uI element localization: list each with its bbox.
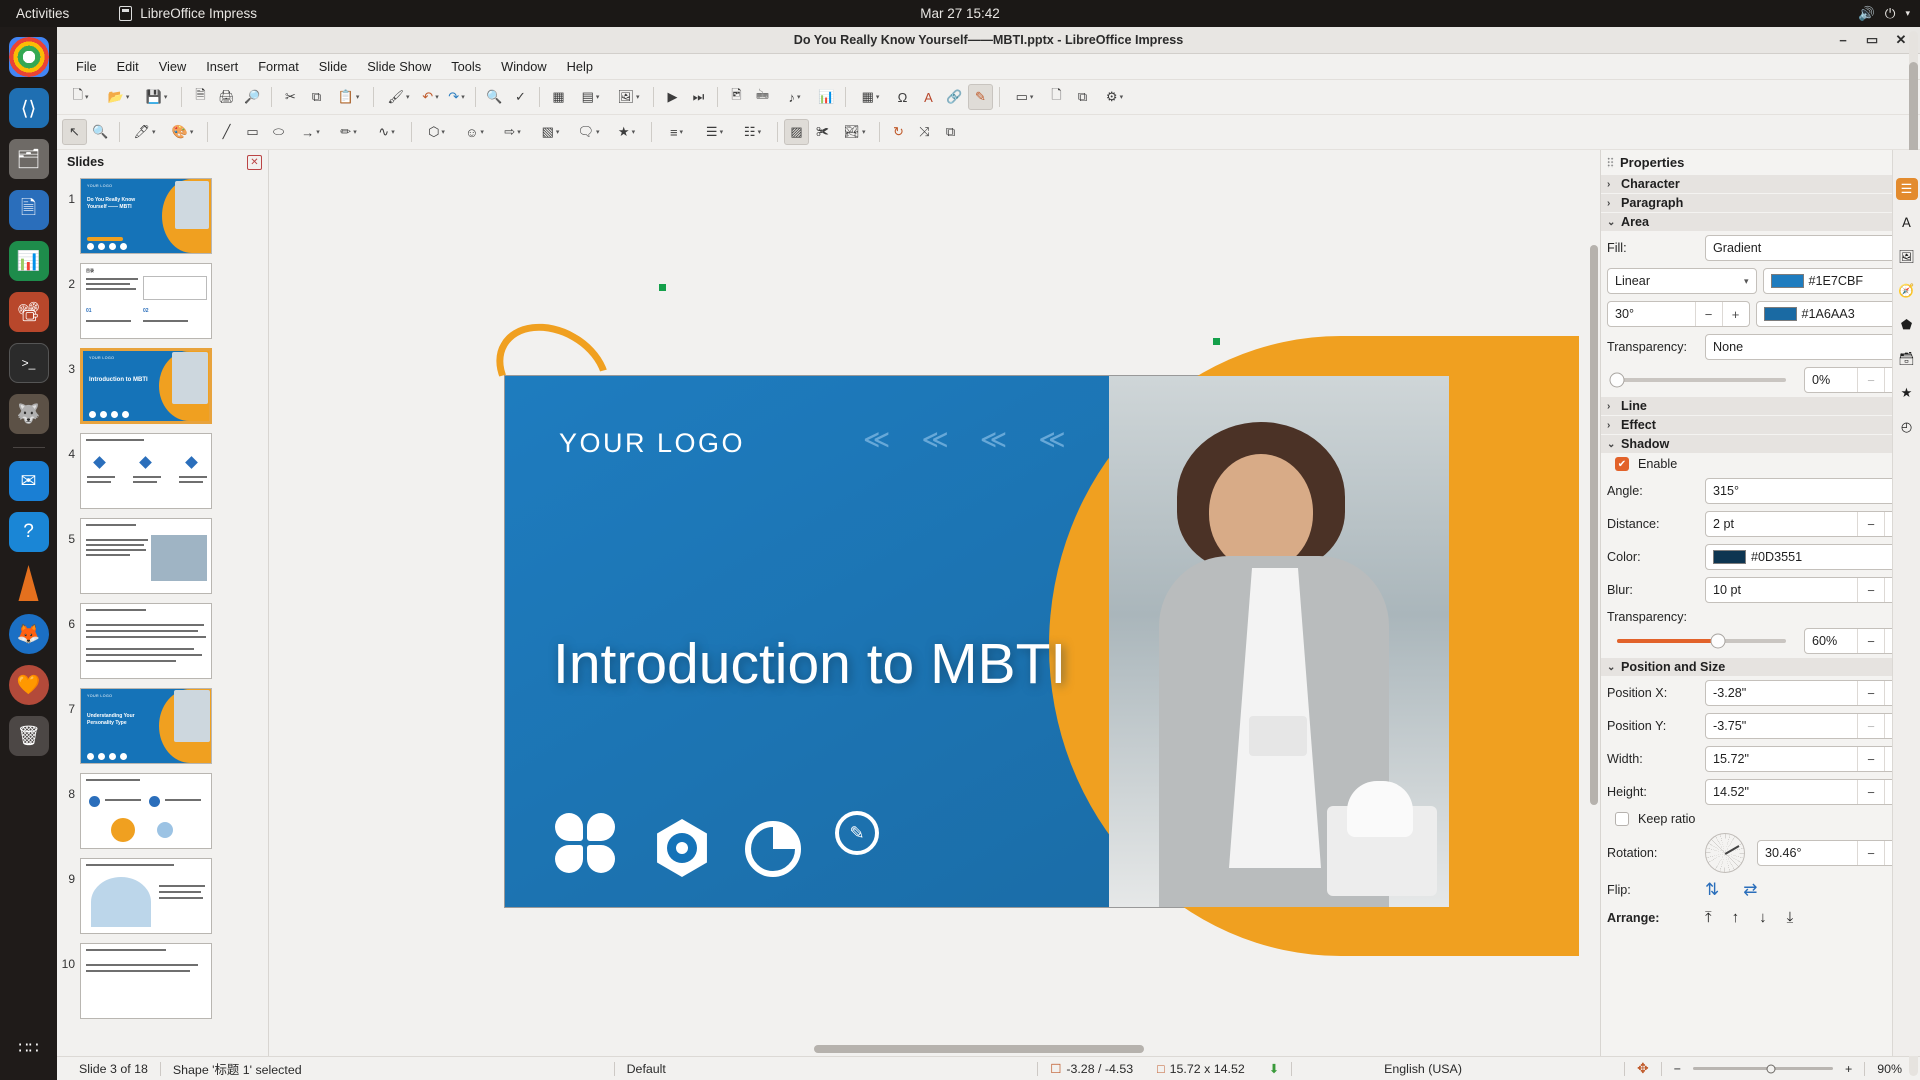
rotate-icon[interactable]: ↻ — [886, 119, 911, 145]
window-controls[interactable]: − ▭ ✕ — [1830, 30, 1914, 50]
position-x-stepper[interactable]: -3.28" − + — [1705, 680, 1912, 706]
slide-thumbnail-6[interactable]: 6 — [61, 603, 266, 679]
new-document-icon[interactable]: 🗋▾ — [62, 84, 99, 110]
section-line[interactable]: › Line ⚙ — [1601, 396, 1920, 415]
insert-image-icon[interactable]: 🖻 — [724, 84, 749, 110]
decrement-button[interactable]: − — [1857, 780, 1884, 804]
position-x-label: Position X: — [1607, 686, 1699, 700]
insert-line-icon[interactable]: ╱ — [214, 119, 239, 145]
menu-file[interactable]: File — [67, 56, 106, 77]
decrement-button[interactable]: − — [1857, 714, 1884, 738]
decrement-button[interactable]: − — [1857, 368, 1884, 392]
arrange-row: Arrange: ⤒ ↑ ↓ ⤓ — [1601, 903, 1920, 929]
chevron-down-icon: ▾ — [1744, 276, 1749, 287]
section-character-label: Character — [1621, 177, 1680, 191]
decrement-button[interactable]: − — [1857, 681, 1884, 705]
shadow-distance-stepper[interactable]: 2 pt − + — [1705, 511, 1912, 537]
area-transparency-value: None — [1713, 340, 1743, 354]
gradient-angle-row: 30° − + #1A6AA3 ▾ — [1601, 297, 1920, 330]
position-y-value[interactable]: -3.75" — [1706, 714, 1857, 738]
sidebar-tab-shapes[interactable]: ⬟ — [1896, 314, 1918, 336]
shadow-enable-label: Enable — [1638, 457, 1677, 471]
status-bar: Slide 3 of 18 Shape '标题 1' selected Defa… — [57, 1056, 1920, 1080]
maximize-button[interactable]: ▭ — [1859, 30, 1885, 50]
slide-thumb-image[interactable] — [80, 773, 212, 849]
dock-item-impress[interactable]: 📽 — [9, 292, 49, 332]
status-save-indicator[interactable]: ⬇ — [1257, 1061, 1291, 1076]
section-paragraph-label: Paragraph — [1621, 196, 1683, 210]
location-icon[interactable] — [653, 819, 711, 877]
width-row: Width: 15.72" − + — [1601, 742, 1920, 775]
slide-thumbnail-10[interactable]: 10 — [61, 943, 266, 1019]
gradient-angle-value[interactable]: 30° — [1608, 302, 1695, 326]
chevron-down-icon: ⌄ — [1607, 439, 1616, 450]
ubuntu-dock[interactable]: ⟨⟩ 🗂 🗎 📊 📽 >_ 🐺 ✉ ? 🦊 🧡 🗑 ∷∷ — [0, 27, 57, 1080]
fill-label: Fill: — [1607, 241, 1699, 255]
power-icon[interactable]: ⏻ — [1885, 6, 1896, 22]
toolbar-separator — [181, 87, 182, 107]
dock-item-vscode[interactable]: ⟨⟩ — [9, 88, 49, 128]
pencil-icon[interactable]: ✎ — [835, 811, 879, 855]
cursor-position-value: -3.28 / -4.53 — [1066, 1062, 1133, 1076]
slide-editing-area[interactable]: YOUR LOGO ≪ ≪ ≪ ≪ Introduction to MBTI — [269, 150, 1600, 1056]
spelling-icon[interactable]: ✓ — [508, 84, 533, 110]
shadow-blur-value[interactable]: 10 pt — [1706, 578, 1857, 602]
master-slide-icon[interactable]: 🖼▾ — [610, 84, 647, 110]
slide-thumb-image[interactable] — [80, 858, 212, 934]
insert-shape-icon[interactable]: ▭▾ — [1006, 84, 1043, 110]
standard-toolbar[interactable]: 🗋▾ 📂▾ 💾▾ 🗎 🖨 🔎 ✂ ⧉ 📋▾ 🖌▾ ↶▾ ↷▾ 🔍 ✓ ▦ ▤▾ … — [57, 80, 1920, 115]
section-area[interactable]: ⌄ Area ⚙ — [1601, 212, 1920, 231]
drag-handle-icon[interactable] — [1607, 157, 1614, 168]
chevron-right-icon: › — [1607, 179, 1616, 190]
keep-ratio-label: Keep ratio — [1638, 812, 1695, 826]
canvas-horizontal-scrollbar[interactable] — [269, 1043, 1600, 1056]
activities-button[interactable]: Activities — [0, 6, 83, 21]
insert-audio-video-icon[interactable]: ♪▾ — [776, 84, 813, 110]
slides-panel-header: Slides ✕ — [57, 150, 268, 174]
section-paragraph[interactable]: › Paragraph ⚙ — [1601, 193, 1920, 212]
flip-vertically-icon[interactable]: ⇅ — [1705, 880, 1719, 900]
shadow-color-label: Color: — [1607, 550, 1699, 564]
selection-handle[interactable] — [659, 284, 666, 291]
area-transparency-select[interactable]: None ▾ — [1705, 334, 1912, 360]
clone-formatting-icon[interactable]: 🖌▾ — [380, 84, 417, 110]
toolbar-separator — [717, 87, 718, 107]
color-swatch — [1713, 550, 1746, 564]
slide-thumbnail-7[interactable]: 7 YOUR LOGO Understanding YourPersonalit… — [61, 688, 266, 764]
gradient-end-color-select[interactable]: #1A6AA3 ▾ — [1756, 301, 1913, 327]
slide-properties-icon[interactable]: ⚙▾ — [1096, 84, 1133, 110]
section-position-and-size[interactable]: ⌄ Position and Size ⚙ — [1601, 657, 1920, 676]
height-stepper[interactable]: 14.52" − + — [1705, 779, 1912, 805]
menu-format[interactable]: Format — [249, 56, 308, 77]
shadow-angle-label: Angle: — [1607, 484, 1699, 498]
duplicate-slide-icon[interactable]: ⧉ — [1070, 84, 1095, 110]
gradient-start-color-select[interactable]: #1E7CBF ▾ — [1763, 268, 1913, 294]
status-cursor-position: ☐ -3.28 / -4.53 — [1038, 1061, 1145, 1076]
drawing-toolbar[interactable]: ↖ 🔍 🖊▾ 🎨▾ ╱ ▭ ⬭ →▾ ✏▾ ∿▾ ⬡▾ ☺▾ ⇨▾ ▧▾ 🗨▾ … — [57, 115, 1920, 150]
decrement-button[interactable]: − — [1857, 512, 1884, 536]
gradient-type-value: Linear — [1615, 274, 1650, 288]
section-effect-label: Effect — [1621, 418, 1656, 432]
system-tray[interactable]: 🔊 ⏻ ▾ — [1858, 6, 1910, 22]
send-to-back-icon[interactable]: ⤓ — [1787, 909, 1794, 926]
position-x-value[interactable]: -3.28" — [1706, 681, 1857, 705]
gnome-top-bar: Activities LibreOffice Impress Mar 27 15… — [0, 0, 1920, 27]
size-icon: □ — [1157, 1062, 1164, 1076]
width-stepper[interactable]: 15.72" − + — [1705, 746, 1912, 772]
shadow-distance-value[interactable]: 2 pt — [1706, 512, 1857, 536]
rectangle-icon[interactable]: ▭ — [240, 119, 265, 145]
stars-icon[interactable]: ★▾ — [608, 119, 645, 145]
menu-slide[interactable]: Slide — [310, 56, 356, 77]
toolbar-separator — [651, 122, 652, 142]
minimize-button[interactable]: − — [1830, 30, 1856, 50]
slide-number: 9 — [61, 858, 75, 886]
insert-special-character-icon[interactable]: Ω — [890, 84, 915, 110]
slide-thumbnail-list[interactable]: 1 YOUR LOGO Do You Really KnowYourself —… — [57, 174, 268, 1056]
object-size-value: 15.72 x 14.52 — [1170, 1062, 1245, 1076]
canvas-vertical-scrollbar[interactable] — [1588, 150, 1600, 1030]
sidebar-tab-gallery[interactable]: 🖼 — [1896, 246, 1918, 268]
insert-textbox-icon[interactable]: 🖮 — [750, 84, 775, 110]
chevron-down-icon[interactable]: ▾ — [1905, 8, 1910, 19]
position-x-row: Position X: -3.28" − + — [1601, 676, 1920, 709]
slides-panel[interactable]: Slides ✕ 1 YOUR LOGO Do You Really KnowY… — [57, 150, 269, 1056]
display-grid-icon[interactable]: ▦ — [546, 84, 571, 110]
print-preview-icon[interactable]: 🔎 — [240, 84, 265, 110]
dock-item-writer[interactable]: 🗎 — [9, 190, 49, 230]
menu-slideshow[interactable]: Slide Show — [358, 56, 440, 77]
decrement-button[interactable]: − — [1857, 747, 1884, 771]
start-from-current-slide-icon[interactable]: ⏭ — [686, 84, 711, 110]
slide-thumbnail-4[interactable]: 4 — [61, 433, 266, 509]
shadow-transparency-slider[interactable] — [1617, 639, 1786, 643]
dock-item-gimp[interactable]: 🐺 — [9, 394, 49, 434]
title-bar: Do You Really Know Yourself——MBTI.pptx -… — [57, 27, 1920, 54]
status-language[interactable]: English (USA) — [1372, 1061, 1474, 1076]
close-icon[interactable]: ✕ — [247, 155, 262, 170]
toggle-shadow-icon[interactable]: ▨ — [784, 119, 809, 145]
decrement-button[interactable]: − — [1857, 578, 1884, 602]
flip-label: Flip: — [1607, 883, 1699, 897]
line-style-icon[interactable]: ✏▾ — [330, 119, 367, 145]
menu-view[interactable]: View — [150, 56, 196, 77]
arrange-icon[interactable]: ☰▾ — [696, 119, 733, 145]
impress-window: Do You Really Know Yourself——MBTI.pptx -… — [57, 27, 1920, 1080]
dock-item-help[interactable]: ? — [9, 512, 49, 552]
dock-item-software[interactable]: 🧡 — [9, 665, 49, 705]
decrement-button[interactable]: − — [1695, 302, 1722, 326]
section-area-label: Area — [1621, 215, 1649, 229]
chevron-decoration: ≪ ≪ ≪ ≪ — [863, 424, 1078, 455]
slide-thumb-image[interactable] — [80, 518, 212, 594]
curve-icon[interactable]: ∿▾ — [368, 119, 405, 145]
slide-number: 8 — [61, 773, 75, 801]
shadow-color-select[interactable]: #0D3551 ▾ — [1705, 544, 1912, 570]
display-views-icon[interactable]: ▤▾ — [572, 84, 609, 110]
toolbar-separator — [207, 122, 208, 142]
export-pdf-icon[interactable]: 🗎 — [188, 84, 213, 110]
decrement-button[interactable]: − — [1857, 629, 1884, 653]
insert-fontwork-icon[interactable]: A — [916, 84, 941, 110]
slide-thumbnail-5[interactable]: 5 — [61, 518, 266, 594]
impress-app-icon — [119, 6, 132, 21]
menu-tools[interactable]: Tools — [442, 56, 490, 77]
rotation-stepper[interactable]: 30.46° − + — [1757, 840, 1912, 866]
ellipse-icon[interactable]: ⬭ — [266, 119, 291, 145]
block-arrows-icon[interactable]: ⇨▾ — [494, 119, 531, 145]
distribute-icon[interactable]: ☷▾ — [734, 119, 771, 145]
menu-edit[interactable]: Edit — [108, 56, 148, 77]
height-value[interactable]: 14.52" — [1706, 780, 1857, 804]
position-y-stepper[interactable]: -3.75" − + — [1705, 713, 1912, 739]
area-transparency-percent[interactable]: 0% — [1805, 368, 1857, 392]
status-selection-info: Shape '标题 1' selected — [161, 1061, 314, 1076]
flowchart-icon[interactable]: ▧▾ — [532, 119, 569, 145]
sidebar-tab-properties[interactable]: ☰ — [1896, 178, 1918, 200]
shadow-blur-stepper[interactable]: 10 pt − + — [1705, 577, 1912, 603]
gradient-type-select[interactable]: Linear ▾ — [1607, 268, 1757, 294]
insert-chart-icon[interactable]: 📊 — [814, 84, 839, 110]
toolbar-separator — [373, 87, 374, 107]
section-effect[interactable]: › Effect ⚙ — [1601, 415, 1920, 434]
cut-icon[interactable]: ✂ — [278, 84, 303, 110]
area-transparency-label: Transparency: — [1607, 340, 1699, 354]
dock-item-thunderbird[interactable]: ✉ — [9, 461, 49, 501]
sidebar-title-bar: Properties ✕ — [1601, 150, 1920, 174]
new-slide-icon[interactable]: 🗋 — [1044, 84, 1069, 110]
dock-item-terminal[interactable]: >_ — [9, 343, 49, 383]
sidebar-content[interactable]: Properties ✕ › Character ⚙ › Paragraph ⚙… — [1601, 150, 1920, 1056]
decrement-button[interactable]: − — [1857, 841, 1884, 865]
sidebar-tab-navigator[interactable]: 🧭 — [1896, 280, 1918, 302]
dock-item-firefox[interactable]: 🦊 — [9, 614, 49, 654]
shadow-transparency-slider-row: 60% − + — [1601, 624, 1920, 657]
slide-thumbnail-1[interactable]: 1 YOUR LOGO Do You Really KnowYourself —… — [61, 178, 266, 254]
open-icon[interactable]: 📂▾ — [100, 84, 137, 110]
shadow-enable-row[interactable]: ✔ Enable — [1601, 453, 1920, 474]
width-label: Width: — [1607, 752, 1699, 766]
position-y-row: Position Y: -3.75" − + — [1601, 709, 1920, 742]
area-transparency-slider[interactable] — [1617, 378, 1786, 382]
active-app-indicator[interactable]: LibreOffice Impress — [119, 6, 257, 21]
bring-forward-icon[interactable]: ↑ — [1732, 909, 1740, 926]
toggle-extrusion-icon[interactable]: ⧉ — [938, 119, 963, 145]
zoom-icon[interactable]: 🔍 — [88, 119, 113, 145]
shadow-blur-label: Blur: — [1607, 583, 1699, 597]
save-icon[interactable]: 💾▾ — [138, 84, 175, 110]
fill-color-icon[interactable]: 🎨▾ — [164, 119, 201, 145]
slide-number: 7 — [61, 688, 75, 716]
show-draw-functions-icon[interactable]: ✎ — [968, 84, 993, 110]
flip-row: Flip: ⇅ ⇄ — [1601, 876, 1920, 903]
toolbar-separator — [271, 87, 272, 107]
slide-number: 2 — [61, 263, 75, 291]
slide-thumb-image[interactable]: 目录 01 02 — [80, 263, 212, 339]
redo-icon[interactable]: ↷▾ — [444, 84, 469, 110]
slide-thumb-image[interactable]: YOUR LOGO Do You Really KnowYourself —— … — [80, 178, 212, 254]
shadow-blur-row: Blur: 10 pt − + — [1601, 573, 1920, 606]
slides-panel-title: Slides — [67, 155, 104, 169]
dock-item-trash[interactable]: 🗑 — [9, 716, 49, 756]
toolbar-separator — [539, 87, 540, 107]
color-swatch — [1771, 274, 1804, 288]
slide-title-text[interactable]: Introduction to MBTI — [553, 631, 1066, 697]
shadow-color-value: #0D3551 — [1751, 550, 1802, 564]
section-shadow[interactable]: ⌄ Shadow ⚙ — [1601, 434, 1920, 453]
crop-icon[interactable]: ✀ — [810, 119, 835, 145]
area-transparency-slider-row: 0% − + — [1601, 363, 1920, 396]
toolbar-separator — [653, 87, 654, 107]
shadow-angle-row: Angle: 315° ▾ — [1601, 474, 1920, 507]
sidebar-tab-rail[interactable]: ☰ 𝖠 🖼 🧭 ⬟ 🗃 ★ ◴ — [1892, 150, 1920, 1056]
flower-icon[interactable] — [551, 809, 619, 877]
symbol-shapes-icon[interactable]: ☺▾ — [456, 119, 493, 145]
find-replace-icon[interactable]: 🔍 — [482, 84, 507, 110]
toolbar-separator — [119, 122, 120, 142]
insert-hyperlink-icon[interactable]: 🔗 — [942, 84, 967, 110]
shadow-transparency-row: Transparency: — [1601, 606, 1920, 624]
callout-icon[interactable]: 🗨▾ — [570, 119, 607, 145]
gradient-type-row: Linear ▾ #1E7CBF ▾ — [1601, 264, 1920, 297]
slide-thumbnail-9[interactable]: 9 — [61, 858, 266, 934]
menu-help[interactable]: Help — [558, 56, 602, 77]
section-character[interactable]: › Character ⚙ — [1601, 174, 1920, 193]
shadow-transparency-percent[interactable]: 60% — [1805, 629, 1857, 653]
canvas[interactable]: YOUR LOGO ≪ ≪ ≪ ≪ Introduction to MBTI — [269, 150, 1600, 1043]
chevron-right-icon: › — [1607, 401, 1616, 412]
slide-number: 4 — [61, 433, 75, 461]
fill-type-value: Gradient — [1713, 241, 1761, 255]
menu-insert[interactable]: Insert — [197, 56, 247, 77]
slide-thumb-image[interactable] — [80, 433, 212, 509]
color-swatch — [1764, 307, 1797, 321]
sidebar-tab-master-slides[interactable]: 🗃 — [1896, 348, 1918, 370]
menu-bar[interactable]: File Edit View Insert Format Slide Slide… — [57, 54, 1920, 80]
basic-shapes-icon[interactable]: ⬡▾ — [418, 119, 455, 145]
gradient-angle-stepper[interactable]: 30° − + — [1607, 301, 1750, 327]
fill-row: Fill: Gradient ▾ — [1601, 231, 1920, 264]
transformations-icon[interactable]: ⤨ — [912, 119, 937, 145]
current-slide[interactable]: YOUR LOGO ≪ ≪ ≪ ≪ Introduction to MBTI — [505, 376, 1449, 907]
sidebar-title: Properties — [1620, 155, 1684, 170]
shadow-enable-checkbox[interactable]: ✔ — [1615, 457, 1629, 471]
align-objects-icon[interactable]: ≡▾ — [658, 119, 695, 145]
dock-item-files[interactable]: 🗂 — [9, 139, 49, 179]
properties-sidebar[interactable]: Properties ✕ › Character ⚙ › Paragraph ⚙… — [1600, 150, 1920, 1056]
bring-to-front-icon[interactable]: ⤒ — [1705, 909, 1712, 926]
slide-number: 5 — [61, 518, 75, 546]
keep-ratio-row[interactable]: Keep ratio — [1601, 808, 1920, 829]
section-line-label: Line — [1621, 399, 1647, 413]
shadow-angle-select[interactable]: 315° ▾ — [1705, 478, 1912, 504]
sidebar-tab-styles[interactable]: 𝖠 — [1896, 212, 1918, 234]
shadow-distance-row: Distance: 2 pt − + — [1601, 507, 1920, 540]
slide-thumb-image[interactable] — [80, 603, 212, 679]
slide-number: 6 — [61, 603, 75, 631]
select-icon[interactable]: ↖ — [62, 119, 87, 145]
print-icon[interactable]: 🖨 — [214, 84, 239, 110]
width-value[interactable]: 15.72" — [1706, 747, 1857, 771]
volume-icon[interactable]: 🔊 — [1858, 6, 1875, 22]
slide-thumbnail-8[interactable]: 8 — [61, 773, 266, 849]
slide-thumb-image[interactable]: YOUR LOGO Introduction to MBTI — [80, 348, 212, 424]
pie-icon[interactable] — [745, 821, 801, 877]
gradient-end-color-value: #1A6AA3 — [1802, 307, 1855, 321]
slide-thumb-image[interactable] — [80, 943, 212, 1019]
start-from-first-slide-icon[interactable]: ▶ — [660, 84, 685, 110]
toolbar-separator — [879, 122, 880, 142]
shadow-color-row: Color: #0D3551 ▾ — [1601, 540, 1920, 573]
slide-thumbnail-3[interactable]: 3 YOUR LOGO Introduction to MBTI — [61, 348, 266, 424]
sidebar-tab-animation[interactable]: ★ — [1896, 382, 1918, 404]
shadow-angle-value: 315° — [1713, 484, 1739, 498]
filter-icon[interactable]: 🏞▾ — [836, 119, 873, 145]
zoom-slider[interactable] — [1693, 1067, 1833, 1070]
arrow-icon[interactable]: →▾ — [292, 119, 329, 145]
fit-slide-icon[interactable]: ✥ — [1625, 1061, 1661, 1076]
undo-icon[interactable]: ↶▾ — [418, 84, 443, 110]
menu-window[interactable]: Window — [492, 56, 556, 77]
window-title: Do You Really Know Yourself——MBTI.pptx -… — [794, 33, 1184, 47]
arrange-label: Arrange: — [1607, 911, 1699, 925]
insert-table-icon[interactable]: ▦▾ — [852, 84, 889, 110]
position-icon: ☐ — [1050, 1061, 1061, 1076]
dock-separator — [13, 447, 45, 448]
slide-number: 3 — [61, 348, 75, 376]
show-applications-button[interactable]: ∷∷ — [9, 1028, 49, 1068]
dock-item-chrome[interactable] — [9, 37, 49, 77]
paste-icon[interactable]: 📋▾ — [330, 84, 367, 110]
section-position-size-label: Position and Size — [1621, 660, 1725, 674]
toolbar-separator — [999, 87, 1000, 107]
zoom-in-button[interactable]: + — [1833, 1061, 1864, 1076]
shadow-transparency-label: Transparency: — [1607, 610, 1699, 624]
selection-handle[interactable] — [1213, 338, 1220, 345]
clock[interactable]: Mar 27 15:42 — [920, 6, 1000, 21]
sidebar-tab-slide-transition[interactable]: ◴ — [1896, 416, 1918, 438]
chevron-down-icon: ⌄ — [1607, 217, 1616, 228]
flip-horizontally-icon[interactable]: ⇄ — [1743, 880, 1757, 900]
zoom-out-button[interactable]: − — [1662, 1061, 1693, 1076]
status-slide-info[interactable]: Slide 3 of 18 — [67, 1061, 160, 1076]
status-object-size: □ 15.72 x 14.52 — [1145, 1061, 1257, 1076]
slide-thumb-image[interactable]: YOUR LOGO Understanding YourPersonality … — [80, 688, 212, 764]
status-master-slide[interactable]: Default — [615, 1061, 678, 1076]
dock-item-calc[interactable]: 📊 — [9, 241, 49, 281]
rotation-row: Rotation: 30.46° − + — [1601, 829, 1920, 876]
fill-type-select[interactable]: Gradient ▾ — [1705, 235, 1912, 261]
rotation-value[interactable]: 30.46° — [1758, 841, 1857, 865]
slide-thumbnail-2[interactable]: 2 目录 01 02 — [61, 263, 266, 339]
slide-logo-text[interactable]: YOUR LOGO — [559, 428, 745, 459]
dock-item-vlc[interactable] — [9, 563, 49, 603]
keep-ratio-checkbox[interactable] — [1615, 812, 1629, 826]
chevron-down-icon: ⌄ — [1607, 662, 1616, 673]
section-shadow-label: Shadow — [1621, 437, 1669, 451]
line-color-icon[interactable]: 🖊▾ — [126, 119, 163, 145]
send-backward-icon[interactable]: ↓ — [1759, 909, 1767, 926]
copy-icon[interactable]: ⧉ — [304, 84, 329, 110]
increment-button[interactable]: + — [1722, 302, 1749, 326]
shadow-distance-label: Distance: — [1607, 517, 1699, 531]
area-transparency-row: Transparency: None ▾ — [1601, 330, 1920, 363]
rotation-dial[interactable] — [1705, 833, 1745, 873]
height-label: Height: — [1607, 785, 1699, 799]
toolbar-separator — [777, 122, 778, 142]
